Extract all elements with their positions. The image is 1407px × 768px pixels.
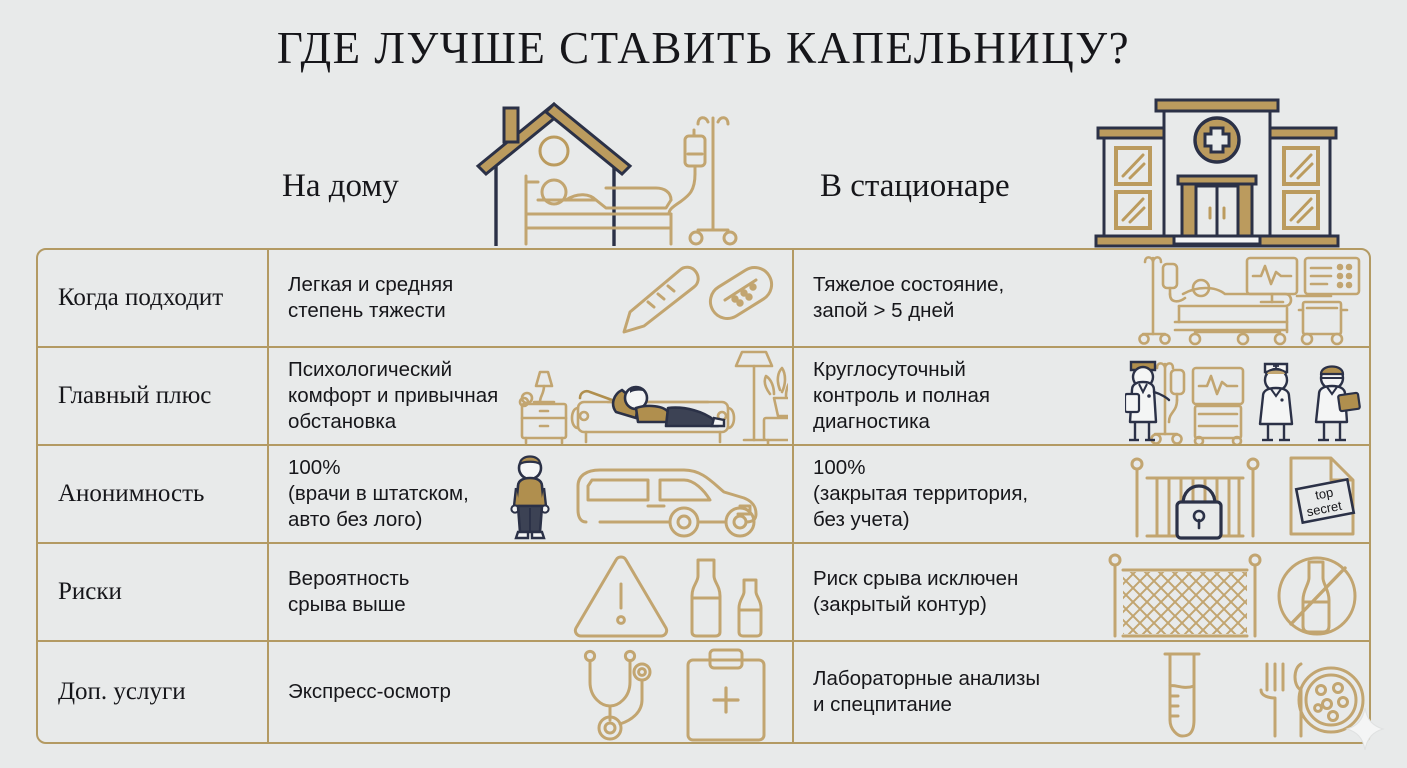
row2-home-icons	[518, 348, 788, 444]
row-home-cell: Экспресс-осмотр	[269, 642, 794, 742]
row-clinic-text: Лабораторные анализы и спецпитание	[794, 666, 1040, 718]
row-clinic-cell: Риск срыва исключен (закрытый контур)	[794, 544, 1369, 640]
row-clinic-text: Риск срыва исключен (закрытый контур)	[794, 566, 1018, 618]
row-home-cell: Вероятность срыва выше	[269, 544, 794, 640]
hospital-bed-icon	[1175, 280, 1291, 344]
comparison-table: Когда подходит Легкая и средняя степень …	[36, 248, 1371, 744]
top-secret-document-icon: top secret	[1291, 458, 1354, 534]
person-icon	[511, 457, 548, 539]
paramedic-icon	[1316, 367, 1360, 441]
table-row: Анонимность 100% (врачи в штатском, авто…	[38, 446, 1369, 544]
bandage-icon	[704, 261, 778, 325]
reclining-person-figure	[613, 387, 724, 426]
row-home-cell: Психологический комфорт и привычная обст…	[269, 348, 794, 444]
row-clinic-cell: 100% (закрытая территория, без учета)	[794, 446, 1369, 542]
van-icon	[578, 470, 756, 536]
nightstand-lamp-icon	[520, 372, 566, 443]
row-label: Когда подходит	[38, 250, 269, 346]
locked-gate-icon	[1132, 459, 1258, 538]
table-row: Главный плюс Психологический комфорт и п…	[38, 348, 1369, 446]
test-tube-icon	[1165, 654, 1199, 736]
potted-plant-icon	[764, 368, 788, 444]
row-label: Анонимность	[38, 446, 269, 542]
row-label: Доп. услуги	[38, 642, 269, 742]
row-home-text: Легкая и средняя степень тяжести	[269, 272, 453, 324]
svg-text:secret: secret	[1305, 498, 1343, 520]
row5-clinic-icons	[1135, 642, 1365, 742]
clipboard-icon	[688, 650, 764, 740]
svg-text:top: top	[1314, 484, 1335, 502]
hospital-building-illustration	[1086, 96, 1348, 248]
house-with-patient-and-iv-illustration	[466, 96, 756, 248]
stethoscope-icon	[585, 651, 650, 739]
bottles-icon	[692, 560, 761, 636]
padlock-icon	[1177, 486, 1221, 538]
row5-home-icons	[558, 642, 788, 742]
diamond-logo	[1345, 706, 1385, 752]
infographic-page: ГДЕ ЛУЧШЕ СТАВИТЬ КАПЕЛЬНИЦУ? На дому В …	[0, 0, 1407, 768]
row2-clinic-icons	[1125, 348, 1365, 444]
column-header-home: На дому	[282, 168, 399, 205]
row-home-text: Вероятность срыва выше	[269, 566, 409, 618]
row-clinic-text: 100% (закрытая территория, без учета)	[794, 455, 1028, 534]
row-home-cell: 100% (врачи в штатском, авто без лого)	[269, 446, 794, 542]
row1-home-icons	[588, 250, 788, 346]
nurse-icon	[1260, 363, 1292, 440]
row-clinic-cell: Тяжелое состояние, запой > 5 дней	[794, 250, 1369, 346]
warning-triangle-icon	[575, 557, 666, 636]
row1-clinic-icons	[1135, 250, 1365, 346]
table-row: Доп. услуги Экспресс-осмотр	[38, 642, 1369, 742]
row4-clinic-icons	[1105, 544, 1365, 640]
ecg-monitor-icon	[1193, 368, 1243, 444]
row-home-text: Психологический комфорт и привычная обст…	[269, 357, 498, 436]
table-row: Когда подходит Легкая и средняя степень …	[38, 250, 1369, 348]
column-header-clinic: В стационаре	[820, 168, 1010, 205]
row-label: Риски	[38, 544, 269, 640]
table-row: Риски Вероятность срыва выше	[38, 544, 1369, 642]
iv-stand-icon	[1152, 363, 1185, 443]
person-on-couch-icon	[572, 391, 734, 442]
doctor-icon	[1125, 362, 1169, 440]
no-alcohol-icon	[1279, 558, 1355, 634]
row-home-cell: Легкая и средняя степень тяжести	[269, 250, 794, 346]
page-title: ГДЕ ЛУЧШЕ СТАВИТЬ КАПЕЛЬНИЦУ?	[0, 22, 1407, 74]
row-clinic-text: Круглосуточный контроль и полная диагнос…	[794, 357, 990, 436]
row-label: Главный плюс	[38, 348, 269, 444]
row3-home-icons	[488, 446, 788, 542]
row-clinic-text: Тяжелое состояние, запой > 5 дней	[794, 272, 1004, 324]
ecg-monitor-icon	[1247, 258, 1297, 302]
row-home-text: 100% (врачи в штатском, авто без лого)	[269, 455, 469, 534]
row-clinic-cell: Круглосуточный контроль и полная диагнос…	[794, 348, 1369, 444]
medical-equipment-icon	[1297, 258, 1359, 344]
row4-home-icons	[558, 544, 788, 640]
iv-stand-icon	[1140, 257, 1186, 343]
row3-clinic-icons: top secret	[1125, 446, 1365, 542]
thermometer-icon	[624, 267, 698, 332]
row-home-text: Экспресс-осмотр	[269, 679, 451, 705]
chain-fence-icon	[1110, 555, 1260, 636]
row-clinic-cell: Лабораторные анализы и спецпитание	[794, 642, 1369, 742]
floor-lamp-icon	[736, 352, 772, 440]
